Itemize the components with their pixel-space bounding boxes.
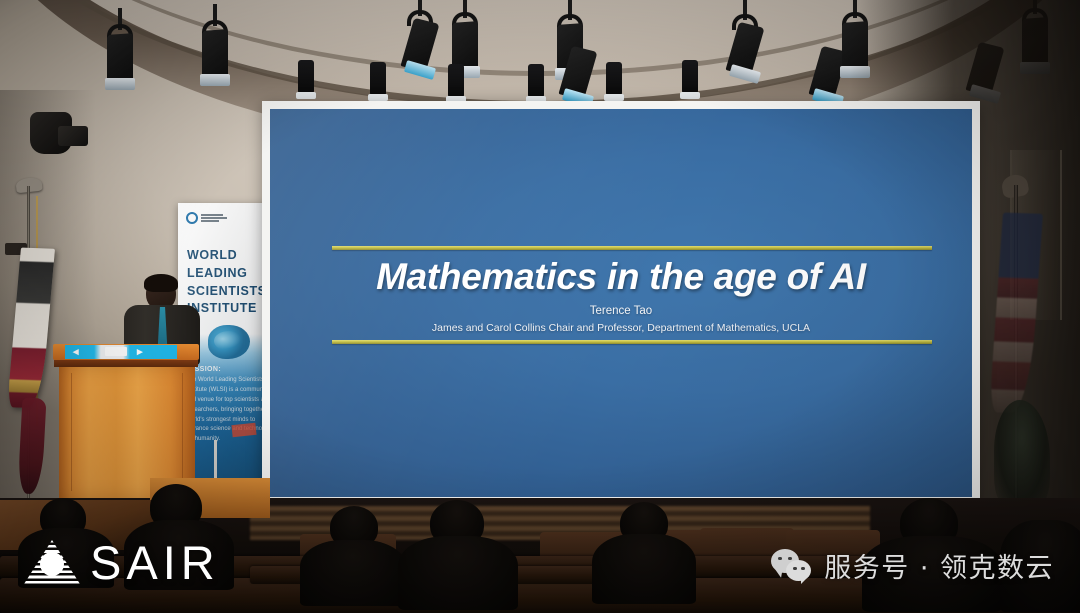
wall-speaker [58,126,88,146]
wechat-logo-icon [771,549,813,583]
united-states-flag [988,185,1058,515]
slide-glare [270,109,972,497]
slide-author: Terence Tao [270,305,972,317]
banner-red-tag [231,423,256,437]
stage-spotlight-icon [528,64,544,98]
audience-member [398,536,518,610]
chevron-right-logo-icon: ▸ [137,347,143,358]
stage-spotlight-icon [298,60,314,94]
chevron-left-logo-icon: ◂ [73,347,79,358]
audience-member [300,540,406,606]
audience-member [592,534,696,604]
slide-affiliation: James and Carol Collins Chair and Profes… [270,322,972,334]
screenshot-root: WORLD LEADING SCIENTISTS INSTITUTE MISSI… [0,0,1080,613]
slide-rule-bottom [332,340,932,344]
potted-plant [994,400,1050,510]
slide-title: Mathematics in the age of AI [270,256,972,298]
slide-rule-top [332,246,932,250]
stage-spotlight-icon [370,62,386,96]
projection-screen: Mathematics in the age of AI Terence Tao… [262,101,980,505]
presentation-slide: Mathematics in the age of AI Terence Tao… [270,109,972,497]
sair-wordmark: SAIR [90,541,220,584]
wechat-account-name: 服务号 · 领克数云 [824,546,1054,585]
stage-spotlight-icon [682,60,698,94]
sair-watermark: SAIR [24,540,220,584]
podium-sign: ◂ ▸ [65,345,177,359]
stage-spotlight-icon [606,62,622,96]
stage-spotlight-icon [448,64,464,98]
sair-pyramid-logo-icon [24,540,80,584]
wechat-watermark: 服务号 · 领克数云 [771,546,1054,585]
